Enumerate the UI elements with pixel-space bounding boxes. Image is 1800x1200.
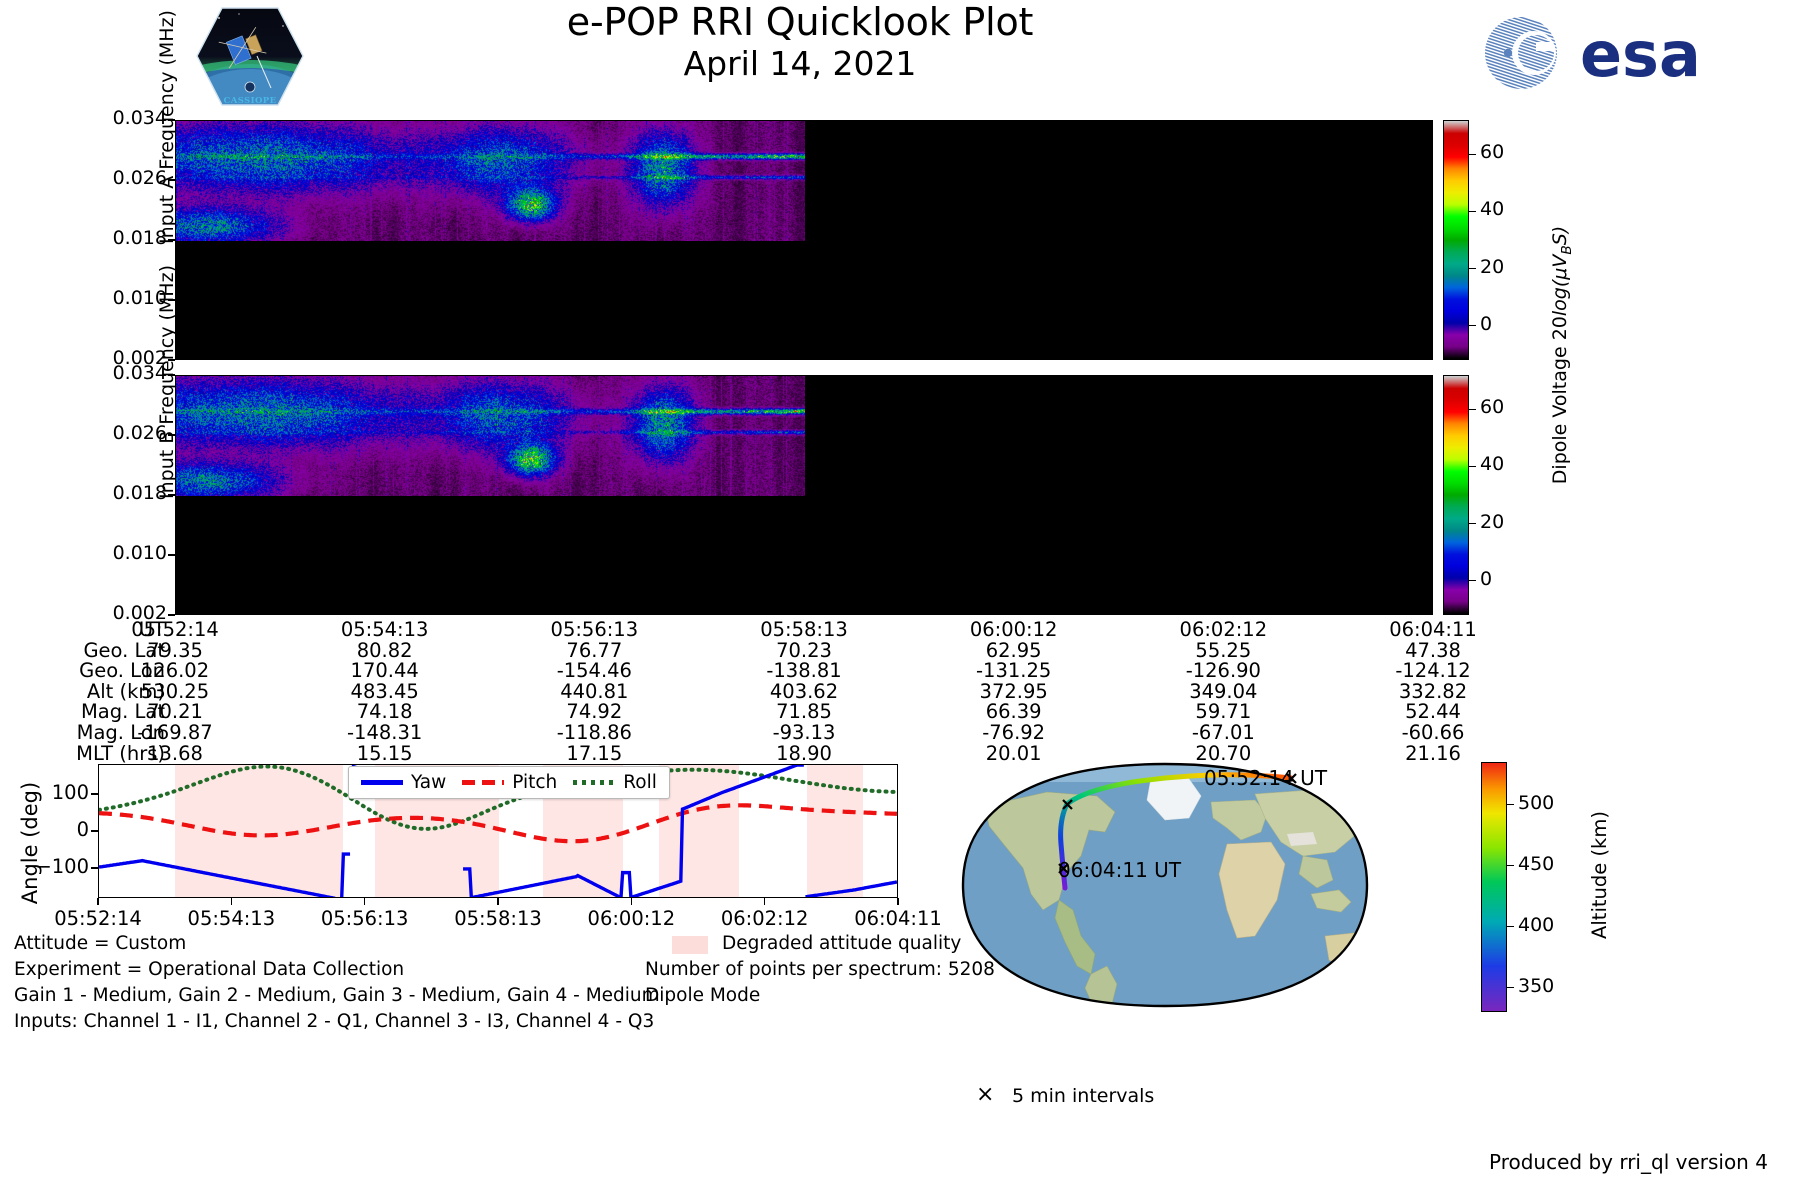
colorbar-tick-label: 20 <box>1480 256 1504 278</box>
table-cell: -76.92 <box>982 721 1045 744</box>
table-cell: 47.38 <box>1405 639 1461 662</box>
colorbar-tick-label: 0 <box>1480 568 1492 590</box>
table-row: UT05:52:1405:54:1305:56:1305:58:1306:00:… <box>0 618 1560 639</box>
table-cell: 372.95 <box>980 680 1048 703</box>
table-row-label: Mag. Lat <box>35 700 165 723</box>
colorbar-tick-label: 350 <box>1518 975 1554 997</box>
table-row: Geo. Lon126.02170.44-154.46-138.81-131.2… <box>0 659 1560 680</box>
esa-wordmark: esa <box>1580 18 1698 91</box>
pitch-trace <box>99 805 897 841</box>
page-title: e-POP RRI Quicklook Plot <box>450 2 1150 43</box>
attitude-xtick-label: 05:58:13 <box>454 907 542 930</box>
attitude-xtick-mark <box>497 898 499 905</box>
table-cell: -154.46 <box>557 659 632 682</box>
table-cell: -169.87 <box>137 721 212 744</box>
table-row: Alt (km)530.25483.45440.81403.62372.9534… <box>0 680 1560 701</box>
colorbar-tick-label: 60 <box>1480 141 1504 163</box>
colorbar-tick-mark <box>1469 268 1476 270</box>
ground-track-map: 05:52:14 UT 06:04:11 UT <box>955 760 1375 1010</box>
colorbar-tick-mark <box>1469 154 1476 156</box>
table-cell: -60.66 <box>1402 721 1465 744</box>
attitude-legend: Yaw Pitch Roll <box>348 766 670 799</box>
colorbar-tick-label: 40 <box>1480 198 1504 220</box>
colorbar-tick-mark <box>1469 580 1476 582</box>
attitude-ytick-label: 0 <box>3 818 89 841</box>
title-block: e-POP RRI Quicklook Plot April 14, 2021 <box>450 2 1150 83</box>
gain-info: Gain 1 - Medium, Gain 2 - Medium, Gain 3… <box>14 985 660 1006</box>
spectrogram-ytick-label: 0.010 <box>57 287 167 309</box>
spectrogram-ytick-label: 0.002 <box>57 347 167 369</box>
colorbar-tick-mark <box>1469 523 1476 525</box>
table-cell: 483.45 <box>351 680 419 703</box>
table-cell: 403.62 <box>770 680 838 703</box>
attitude-ytick-label: 100 <box>3 781 89 804</box>
cassiope-mission-patch-icon: CASSIOPE <box>195 4 305 109</box>
parameter-table: UT05:52:1405:54:1305:56:1305:58:1306:00:… <box>0 618 1560 762</box>
spectrogram-ytick-label: 0.026 <box>57 422 167 444</box>
spectrogram-b-image <box>176 376 805 496</box>
table-row: Geo. Lat79.3580.8276.7770.2362.9555.2547… <box>0 639 1560 660</box>
table-cell: 05:58:13 <box>760 618 848 641</box>
legend-label-yaw: Yaw <box>411 772 446 793</box>
table-cell: 80.82 <box>357 639 413 662</box>
attitude-xtick-mark <box>897 898 899 905</box>
colorbar-tick-mark <box>1469 211 1476 213</box>
colorbar-b-gradient <box>1444 376 1468 614</box>
table-cell: 18.90 <box>776 742 832 765</box>
quicklook-page: CASSIOPE e-POP RRI Quicklook Plot April … <box>0 0 1800 1200</box>
roll-line-icon <box>573 780 615 785</box>
track-end-label: 06:04:11 UT <box>1058 858 1181 882</box>
table-cell: 332.82 <box>1399 680 1467 703</box>
spectrogram-ytick-label: 0.034 <box>57 107 167 129</box>
table-cell: 05:54:13 <box>341 618 429 641</box>
legend-item-yaw: Yaw <box>361 772 446 793</box>
attitude-xtick-label: 06:02:12 <box>721 907 809 930</box>
table-cell: -131.25 <box>976 659 1051 682</box>
table-cell: 66.39 <box>986 700 1042 723</box>
colorbar-tick-label: 450 <box>1518 853 1554 875</box>
pitch-line-icon <box>462 780 504 785</box>
spectrogram-a-plot <box>175 120 1433 360</box>
table-cell: 440.81 <box>560 680 628 703</box>
table-cell: 74.92 <box>566 700 622 723</box>
attitude-ytick-mark <box>91 793 98 795</box>
colorbar-title-sub: B <box>1559 245 1575 254</box>
table-cell: 59.71 <box>1195 700 1251 723</box>
spectrogram-ytick-label: 0.026 <box>57 167 167 189</box>
table-cell: 21.16 <box>1405 742 1461 765</box>
attitude-xtick-label: 05:52:14 <box>54 907 142 930</box>
colorbar-tick-mark <box>1507 804 1514 806</box>
table-cell: 17.15 <box>566 742 622 765</box>
degraded-quality-swatch <box>672 936 708 954</box>
attitude-xtick-mark <box>631 898 633 905</box>
colorbar-title-prefix: Dipole Voltage 20 <box>1549 316 1571 484</box>
experiment-info: Experiment = Operational Data Collection <box>14 959 404 980</box>
dipole-mode: Dipole Mode <box>645 985 760 1006</box>
attitude-ytick-mark <box>91 830 98 832</box>
colorbar-tick-mark <box>1507 987 1514 989</box>
legend-label-roll: Roll <box>623 772 657 793</box>
cassiope-hexagon-svg: CASSIOPE <box>195 4 305 109</box>
table-cell: -138.81 <box>766 659 841 682</box>
colorbar-tick-mark <box>1469 409 1476 411</box>
table-row-label: Geo. Lat <box>35 639 165 662</box>
legend-item-roll: Roll <box>573 772 657 793</box>
legend-label-pitch: Pitch <box>512 772 557 793</box>
table-cell: -124.12 <box>1395 659 1470 682</box>
altitude-colorbar-title: Altitude (km) <box>1587 755 1613 995</box>
colorbar-title: Dipole Voltage 20log(μVBS) <box>1548 145 1572 565</box>
interval-marker-icon: × <box>976 1082 994 1107</box>
colorbar-tick-label: 500 <box>1518 792 1554 814</box>
table-cell: 76.77 <box>566 639 622 662</box>
colorbar-a <box>1443 120 1469 360</box>
colorbar-title-italic: log(μV <box>1549 255 1571 316</box>
colorbar-tick-label: 0 <box>1480 313 1492 335</box>
table-cell: 349.04 <box>1189 680 1257 703</box>
table-cell: 06:02:12 <box>1180 618 1268 641</box>
colorbar-tick-label: 40 <box>1480 453 1504 475</box>
attitude-xtick-mark <box>364 898 366 905</box>
spectrogram-ytick-label: 0.018 <box>57 482 167 504</box>
esa-logo-icon: esa <box>1478 12 1698 94</box>
table-cell: -148.31 <box>347 721 422 744</box>
spectrogram-b-plot <box>175 375 1433 615</box>
attitude-ytick-mark <box>91 867 98 869</box>
spectrogram-a-image <box>176 121 805 241</box>
attitude-ylabel: Angle (deg) <box>17 753 43 933</box>
table-row: Mag. Lon-169.87-148.31-118.86-93.13-76.9… <box>0 721 1560 742</box>
spectrogram-ytick-label: 0.034 <box>57 362 167 384</box>
table-cell: 70.23 <box>776 639 832 662</box>
colorbar-tick-mark <box>1507 926 1514 928</box>
colorbar-tick-mark <box>1469 466 1476 468</box>
produced-by-label: Produced by rri_ql version 4 <box>1489 1150 1768 1174</box>
page-header: CASSIOPE e-POP RRI Quicklook Plot April … <box>0 0 1800 110</box>
altitude-colorbar <box>1481 762 1507 1012</box>
esa-logo-svg: esa <box>1478 12 1698 94</box>
world-map-svg <box>955 760 1375 1010</box>
table-cell: -118.86 <box>557 721 632 744</box>
table-cell: 70.21 <box>147 700 203 723</box>
table-cell: 15.15 <box>357 742 413 765</box>
altitude-colorbar-gradient <box>1482 763 1506 1011</box>
table-row: Mag. Lat70.2174.1874.9271.8566.3959.7152… <box>0 700 1560 721</box>
attitude-info: Attitude = Custom <box>14 933 186 954</box>
table-cell: 170.44 <box>351 659 419 682</box>
table-cell: -93.13 <box>773 721 836 744</box>
attitude-xtick-label: 05:54:13 <box>188 907 276 930</box>
table-cell: 05:56:13 <box>551 618 639 641</box>
table-cell: 05:52:14 <box>131 618 219 641</box>
attitude-xtick-label: 05:56:13 <box>321 907 409 930</box>
table-cell: -126.90 <box>1186 659 1261 682</box>
table-cell: 126.02 <box>141 659 209 682</box>
table-cell: 62.95 <box>986 639 1042 662</box>
legend-item-pitch: Pitch <box>462 772 557 793</box>
degraded-quality-label: Degraded attitude quality <box>722 933 961 954</box>
map-body <box>955 760 1375 1010</box>
spectrogram-ytick-mark <box>168 614 175 615</box>
colorbar-a-gradient <box>1444 121 1468 359</box>
colorbar-tick-label: 20 <box>1480 511 1504 533</box>
table-cell: 79.35 <box>147 639 203 662</box>
table-cell: 06:00:12 <box>970 618 1058 641</box>
colorbar-tick-mark <box>1469 325 1476 327</box>
spectrogram-ytick-label: 0.010 <box>57 542 167 564</box>
table-cell: 13.68 <box>147 742 203 765</box>
interval-legend-label: 5 min intervals <box>1012 1085 1154 1107</box>
table-cell: 74.18 <box>357 700 413 723</box>
spectrogram-ytick-label: 0.018 <box>57 227 167 249</box>
spectrogram-ytick-mark <box>168 554 175 555</box>
table-row-label: MLT (hrs) <box>35 742 165 765</box>
track-start-label: 05:52:14 UT <box>1204 766 1327 790</box>
attitude-xtick-label: 06:04:11 <box>854 907 942 930</box>
attitude-ytick-label: −100 <box>3 855 89 878</box>
table-cell: 52.44 <box>1405 700 1461 723</box>
attitude-xtick-mark <box>764 898 766 905</box>
yaw-line-icon <box>361 780 403 785</box>
attitude-xtick-mark <box>231 898 233 905</box>
colorbar-tick-mark <box>1507 865 1514 867</box>
table-cell: 530.25 <box>141 680 209 703</box>
attitude-xtick-label: 06:00:12 <box>588 907 676 930</box>
colorbar-title-tail: S) <box>1549 226 1571 245</box>
colorbar-b <box>1443 375 1469 615</box>
table-cell: -67.01 <box>1192 721 1255 744</box>
table-cell: 55.25 <box>1195 639 1251 662</box>
colorbar-tick-label: 400 <box>1518 914 1554 936</box>
attitude-xtick-mark <box>97 898 99 905</box>
table-cell: 06:04:11 <box>1389 618 1477 641</box>
table-cell: 71.85 <box>776 700 832 723</box>
inputs-info: Inputs: Channel 1 - I1, Channel 2 - Q1, … <box>14 1011 654 1032</box>
points-per-spectrum: Number of points per spectrum: 5208 <box>645 959 995 980</box>
colorbar-tick-label: 60 <box>1480 396 1504 418</box>
page-date: April 14, 2021 <box>450 45 1150 83</box>
